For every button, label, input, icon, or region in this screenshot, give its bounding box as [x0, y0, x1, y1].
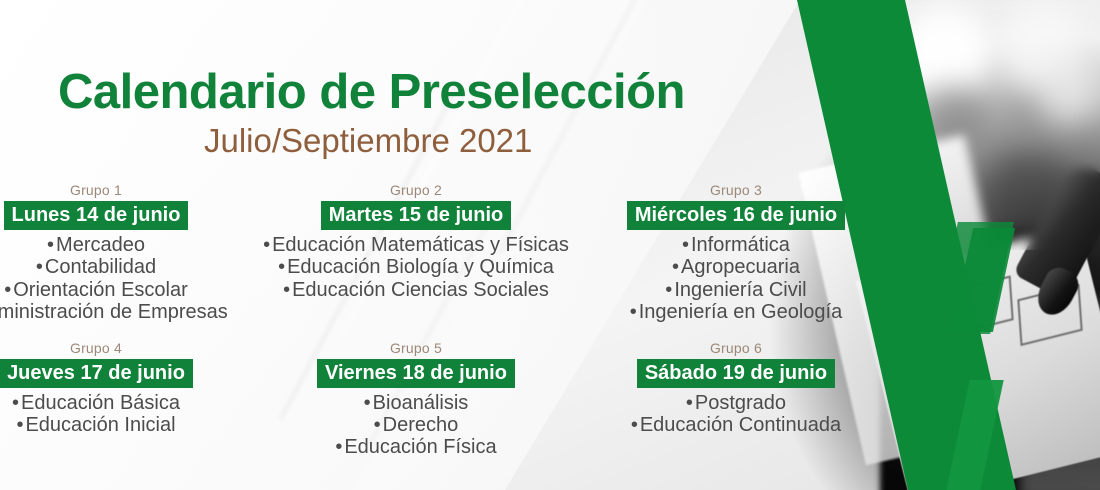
group-date-badge: Miércoles 16 de junio — [627, 201, 845, 230]
page-subtitle: Julio/Septiembre 2021 — [204, 122, 532, 160]
list-item-label: Educación Inicial — [25, 414, 175, 436]
list-item-label: Educación Ciencias Sociales — [292, 279, 549, 301]
bullet-icon: • — [36, 256, 43, 278]
group-card-2: Grupo 2 Martes 15 de junio •Educación Ma… — [256, 182, 576, 324]
group-label: Grupo 2 — [258, 182, 574, 198]
list-item: •Educación Física — [258, 436, 574, 458]
group-item-list: •Postgrado •Educación Continuada — [578, 392, 894, 437]
list-item-label: Postgrado — [695, 392, 786, 414]
group-label: Grupo 6 — [578, 340, 894, 356]
page-title: Calendario de Preselección — [58, 64, 685, 120]
bullet-icon: • — [16, 414, 23, 436]
list-item: •Educación Básica — [0, 392, 254, 414]
group-card-1: Grupo 1 Lunes 14 de junio •Mercadeo •Con… — [0, 182, 256, 324]
list-item: •Derecho — [258, 414, 574, 436]
list-item: •Administración de Empresas — [0, 301, 254, 323]
group-label: Grupo 1 — [0, 182, 254, 198]
bullet-icon: • — [278, 256, 285, 278]
groups-row-bottom: Grupo 4 Jueves 17 de junio •Educación Bá… — [0, 340, 896, 459]
group-item-list: •Educación Básica •Educación Inicial — [0, 392, 254, 437]
bullet-icon: • — [335, 436, 342, 458]
groups-row-top: Grupo 1 Lunes 14 de junio •Mercadeo •Con… — [0, 182, 896, 324]
list-item: •Educación Inicial — [0, 414, 254, 436]
list-item-label: Educación Continuada — [640, 414, 841, 436]
bullet-icon: • — [672, 256, 679, 278]
list-item: •Ingeniería en Geología — [578, 301, 894, 323]
list-item-label: Educación Física — [344, 436, 496, 458]
list-item: •Ingeniería Civil — [578, 279, 894, 301]
list-item-label: Mercadeo — [56, 234, 145, 256]
list-item: •Orientación Escolar — [0, 279, 254, 301]
preselection-calendar-poster: Calendario de Preselección Julio/Septiem… — [0, 0, 1100, 490]
group-date-badge: Viernes 18 de junio — [317, 359, 515, 388]
list-item: •Educación Ciencias Sociales — [258, 279, 574, 301]
list-item-label: Agropecuaria — [681, 256, 800, 278]
list-item-label: Educación Matemáticas y Físicas — [272, 234, 569, 256]
list-item: •Contabilidad — [0, 256, 254, 278]
bullet-icon: • — [12, 392, 19, 414]
list-item-label: Educación Básica — [21, 392, 180, 414]
bullet-icon: • — [630, 301, 637, 323]
list-item: •Postgrado — [578, 392, 894, 414]
bullet-icon: • — [263, 234, 270, 256]
list-item: •Educación Matemáticas y Físicas — [258, 234, 574, 256]
bullet-icon: • — [4, 279, 11, 301]
bullet-icon: • — [665, 279, 672, 301]
list-item: •Educación Continuada — [578, 414, 894, 436]
list-item-label: Administración de Empresas — [0, 301, 228, 323]
group-date-badge: Martes 15 de junio — [321, 201, 512, 230]
list-item-label: Derecho — [383, 414, 459, 436]
groups-grid: Grupo 1 Lunes 14 de junio •Mercadeo •Con… — [0, 182, 896, 459]
group-date-badge: Jueves 17 de junio — [0, 359, 193, 388]
list-item-label: Orientación Escolar — [13, 279, 188, 301]
list-item-label: Bioanálisis — [373, 392, 469, 414]
group-card-6: Grupo 6 Sábado 19 de junio •Postgrado •E… — [576, 340, 896, 459]
list-item-label: Contabilidad — [45, 256, 156, 278]
list-item-label: Ingeniería Civil — [674, 279, 806, 301]
list-item: •Informática — [578, 234, 894, 256]
list-item: •Agropecuaria — [578, 256, 894, 278]
group-label: Grupo 5 — [258, 340, 574, 356]
bullet-icon: • — [686, 392, 693, 414]
bullet-icon: • — [364, 392, 371, 414]
group-date-badge: Sábado 19 de junio — [637, 359, 835, 388]
list-item-label: Informática — [691, 234, 790, 256]
group-date-badge: Lunes 14 de junio — [4, 201, 189, 230]
group-card-4: Grupo 4 Jueves 17 de junio •Educación Bá… — [0, 340, 256, 459]
bullet-icon: • — [374, 414, 381, 436]
bullet-icon: • — [283, 279, 290, 301]
bullet-icon: • — [47, 234, 54, 256]
list-item: •Mercadeo — [0, 234, 254, 256]
group-card-3: Grupo 3 Miércoles 16 de junio •Informáti… — [576, 182, 896, 324]
group-item-list: •Mercadeo •Contabilidad •Orientación Esc… — [0, 234, 254, 324]
list-item: •Bioanálisis — [258, 392, 574, 414]
list-item: •Educación Biología y Química — [258, 256, 574, 278]
group-card-5: Grupo 5 Viernes 18 de junio •Bioanálisis… — [256, 340, 576, 459]
list-item-label: Ingeniería en Geología — [639, 301, 843, 323]
bullet-icon: • — [682, 234, 689, 256]
list-item-label: Educación Biología y Química — [287, 256, 554, 278]
bullet-icon: • — [631, 414, 638, 436]
group-label: Grupo 3 — [578, 182, 894, 198]
group-item-list: •Educación Matemáticas y Físicas •Educac… — [258, 234, 574, 301]
group-item-list: •Informática •Agropecuaria •Ingeniería C… — [578, 234, 894, 324]
group-label: Grupo 4 — [0, 340, 254, 356]
group-item-list: •Bioanálisis •Derecho •Educación Física — [258, 392, 574, 459]
